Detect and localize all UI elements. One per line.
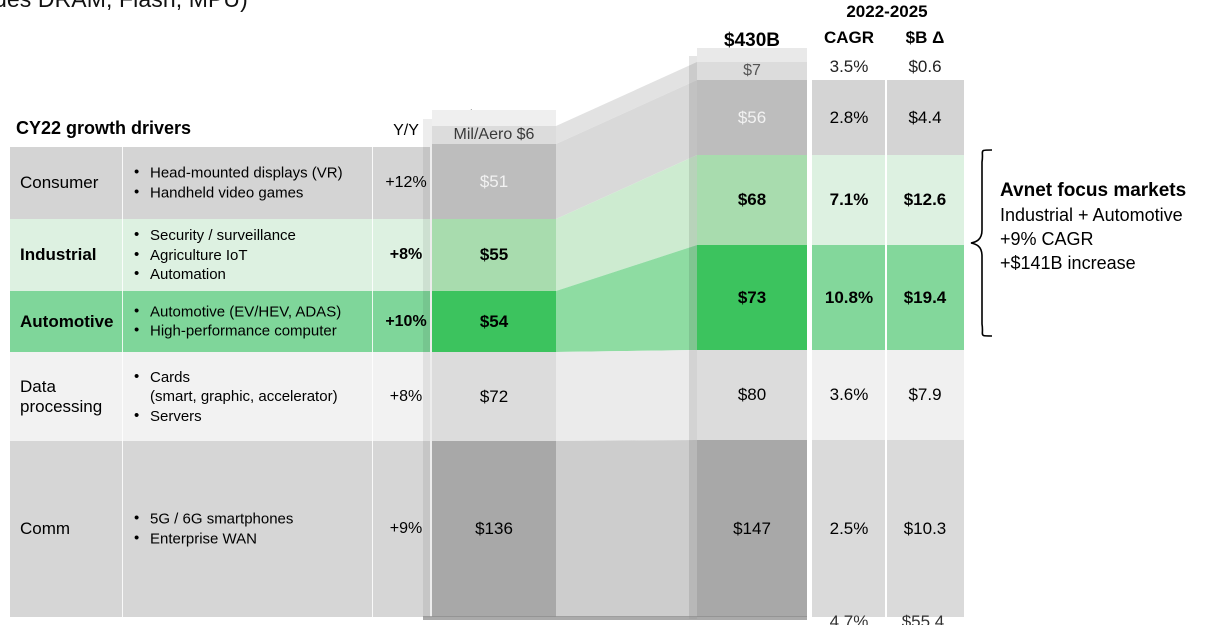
bar-2025-side-face	[689, 56, 697, 619]
metric-value: 7.1%	[812, 190, 886, 210]
metric-cell-cagr: 2.5%	[812, 440, 886, 617]
metric-cell-delta: $10.3	[886, 440, 964, 617]
driver-bullet: (smart, graphic, accelerator)	[132, 387, 390, 407]
bar-2022-segment: $55	[432, 219, 556, 291]
row-drivers: Head-mounted displays (VR)Handheld video…	[132, 164, 390, 203]
bar-base-shadow	[423, 616, 807, 620]
driver-bullet: Servers	[132, 406, 390, 426]
driver-bullet: Agriculture IoT	[132, 245, 390, 265]
bar-2022-top-cap	[432, 110, 556, 126]
metric-value: $19.4	[886, 288, 964, 308]
metric-cell-cagr: 2.8%	[812, 80, 886, 155]
driver-bullet: Automation	[132, 265, 390, 285]
focus-markets-brace	[968, 148, 1002, 338]
bar-2025-segment-label: $68	[697, 190, 807, 210]
bar-2025-segment: $80	[697, 350, 807, 440]
bar-2022-segment-label: $51	[432, 172, 556, 192]
avnet-focus-callout: Avnet focus markets Industrial + Automot…	[1000, 178, 1228, 275]
header-delta: $B Δ	[886, 28, 964, 48]
ribbon-segment	[556, 440, 697, 617]
bar-2022-segment-label: $55	[432, 245, 556, 265]
bar-2025-milaero-label: $7	[697, 62, 807, 80]
metric-value: 3.5%	[812, 57, 886, 77]
row-category-label: Consumer	[10, 173, 122, 193]
table-row: IndustrialSecurity / surveillanceAgricul…	[10, 219, 430, 291]
bar-2025-segment-label: $147	[697, 519, 807, 539]
bar-2022-segment: $54	[432, 291, 556, 352]
metric-value: $12.6	[886, 190, 964, 210]
row-drivers: Cards(smart, graphic, accelerator)Server…	[132, 367, 390, 426]
driver-bullet: Automotive (EV/HEV, ADAS)	[132, 302, 390, 322]
header-period: 2022-2025	[812, 2, 962, 22]
callout-line-2: Industrial + Automotive	[1000, 203, 1228, 227]
bar-2025-segment-label: $56	[697, 108, 807, 128]
metric-value: 3.6%	[812, 385, 886, 405]
driver-bullet: Cards	[132, 367, 390, 387]
callout-line-3: +9% CAGR	[1000, 227, 1228, 251]
metric-cell-cagr: 7.1%	[812, 155, 886, 245]
row-drivers: Automotive (EV/HEV, ADAS)High-performanc…	[132, 302, 390, 341]
table-row: ConsumerHead-mounted displays (VR)Handhe…	[10, 147, 430, 219]
ribbon-segment	[556, 245, 697, 352]
bar-2025-segment-label: $80	[697, 385, 807, 405]
bar-2022-milaero-label: Mil/Aero $6	[432, 126, 556, 144]
driver-bullet: Handheld video games	[132, 183, 390, 203]
row-category-label: Comm	[10, 519, 122, 539]
ribbon-segment	[556, 80, 697, 219]
footer-total-cagr: 4.7%	[812, 612, 886, 625]
metric-cell-cagr: 3.6%	[812, 350, 886, 440]
metric-value: 10.8%	[812, 288, 886, 308]
bar-2022-milaero: Mil/Aero $6	[432, 126, 556, 144]
bar-2025-segment: $68	[697, 155, 807, 245]
slide-canvas: des DRAM, Flash, MPU) CY22 growth driver…	[0, 0, 1228, 625]
metric-value: $10.3	[886, 519, 964, 539]
table-row: AutomotiveAutomotive (EV/HEV, ADAS)High-…	[10, 291, 430, 352]
bar-2022-segment-label: $136	[432, 519, 556, 539]
metric-column-separator	[885, 80, 887, 617]
bar-2025-segment: $147	[697, 440, 807, 617]
row-category-label: Industrial	[10, 245, 122, 265]
callout-title: Avnet focus markets	[1000, 178, 1228, 203]
metric-milaero-delta: $0.6	[886, 54, 964, 80]
driver-bullet: Enterprise WAN	[132, 529, 390, 549]
footer-totals-partial: 4.7%$55.4	[812, 612, 962, 625]
metric-cell-cagr: 10.8%	[812, 245, 886, 350]
row-category-label: Automotive	[10, 312, 122, 332]
slide-title-partial: des DRAM, Flash, MPU)	[0, 0, 248, 13]
metric-cell-delta: $12.6	[886, 155, 964, 245]
metric-column-separator	[810, 80, 812, 617]
bar-2022-segment: $136	[432, 441, 556, 617]
bar-2022-side-face	[423, 119, 432, 618]
row-drivers: Security / surveillanceAgriculture IoTAu…	[132, 226, 390, 285]
row-drivers: 5G / 6G smartphonesEnterprise WAN	[132, 510, 390, 549]
header-cagr: CAGR	[812, 28, 886, 48]
table-row: Data processingCards(smart, graphic, acc…	[10, 352, 430, 441]
ribbon-segment	[556, 350, 697, 441]
header-growth-drivers: CY22 growth drivers	[16, 118, 191, 139]
metric-value: $0.6	[886, 57, 964, 77]
bar-2022-segment: $72	[432, 352, 556, 441]
metric-milaero-cagr: 3.5%	[812, 54, 886, 80]
driver-bullet: Security / surveillance	[132, 226, 390, 246]
bar-2025-segment-label: $73	[697, 288, 807, 308]
metric-value: 2.5%	[812, 519, 886, 539]
metric-value: $4.4	[886, 108, 964, 128]
table-row: Comm5G / 6G smartphonesEnterprise WAN+9%	[10, 441, 430, 617]
row-category-label: Data processing	[10, 377, 122, 417]
bar-2025-segment: $56	[697, 80, 807, 155]
bar-2022-segment-label: $72	[432, 387, 556, 407]
driver-bullet: Head-mounted displays (VR)	[132, 164, 390, 184]
ribbon-milaero	[556, 62, 697, 144]
footer-total-delta: $55.4	[886, 612, 960, 625]
metric-value: $7.9	[886, 385, 964, 405]
ribbon-segment	[556, 155, 697, 291]
bar-2022-segment-label: $54	[432, 312, 556, 332]
metric-cell-delta: $4.4	[886, 80, 964, 155]
bar-2025-segment: $73	[697, 245, 807, 350]
driver-bullet: 5G / 6G smartphones	[132, 510, 390, 530]
bar-2022-segment: $51	[432, 144, 556, 219]
driver-bullet: High-performance computer	[132, 322, 390, 342]
bar-2025-milaero: $7	[697, 62, 807, 80]
callout-line-4: +$141B increase	[1000, 251, 1228, 275]
metric-cell-delta: $19.4	[886, 245, 964, 350]
metric-cell-delta: $7.9	[886, 350, 964, 440]
metric-value: 2.8%	[812, 108, 886, 128]
bar-2025-top-cap	[697, 48, 807, 62]
